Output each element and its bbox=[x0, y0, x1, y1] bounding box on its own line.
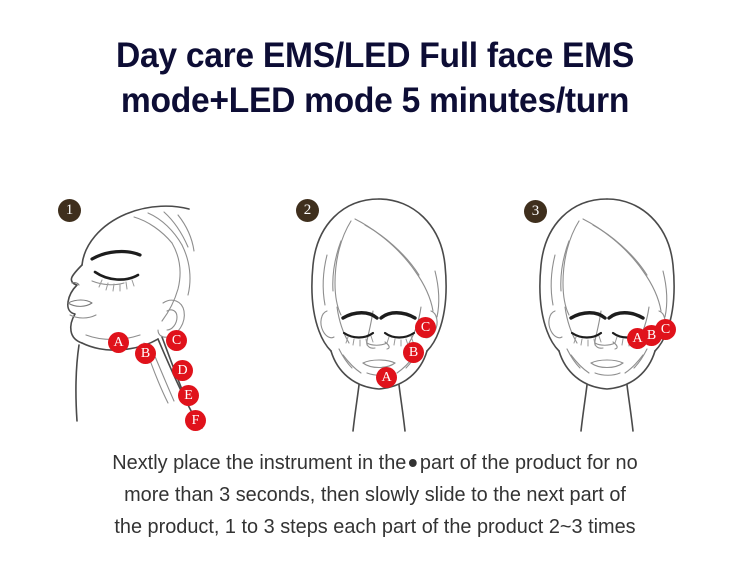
instruction-line-1-after: part of the product for no bbox=[420, 451, 638, 474]
instruction-line-2: more than 3 seconds, then slowly slide t… bbox=[11, 479, 739, 511]
instruction-line-3: the product, 1 to 3 steps each part of t… bbox=[11, 511, 739, 543]
illustration-row: 1 A B C D E F bbox=[0, 185, 750, 435]
point-marker-c[interactable]: C bbox=[655, 319, 676, 340]
instruction-line-1: Nextly place the instrument in thepart o… bbox=[11, 447, 739, 479]
step-badge-2: 2 bbox=[296, 199, 319, 222]
point-marker-b[interactable]: B bbox=[403, 342, 424, 363]
step-badge-3: 3 bbox=[524, 200, 547, 223]
point-marker-e[interactable]: E bbox=[178, 385, 199, 406]
eyebrow-right bbox=[609, 313, 643, 318]
point-marker-c[interactable]: C bbox=[166, 330, 187, 351]
page-title: Day care EMS/LED Full face EMS mode+LED … bbox=[0, 33, 750, 123]
instruction-line-1-before: Nextly place the instrument in the bbox=[112, 451, 406, 474]
point-marker-c[interactable]: C bbox=[415, 317, 436, 338]
front-face-illustration bbox=[483, 185, 733, 435]
panel-step-2: 2 A B C bbox=[255, 185, 505, 435]
point-marker-a[interactable]: A bbox=[376, 367, 397, 388]
point-marker-f[interactable]: F bbox=[185, 410, 206, 431]
front-face-illustration bbox=[255, 185, 505, 435]
instruction-graphic: Day care EMS/LED Full face EMS mode+LED … bbox=[0, 0, 750, 580]
title-line-1: Day care EMS/LED Full face EMS bbox=[15, 33, 735, 78]
point-marker-b[interactable]: B bbox=[135, 343, 156, 364]
point-marker-a[interactable]: A bbox=[108, 332, 129, 353]
profile-head-illustration bbox=[22, 185, 272, 435]
point-marker-d[interactable]: D bbox=[172, 360, 193, 381]
title-line-2: mode+LED mode 5 minutes/turn bbox=[15, 78, 735, 123]
step-badge-1: 1 bbox=[58, 199, 81, 222]
eyebrow bbox=[92, 252, 140, 259]
panel-step-3: 3 A B C bbox=[483, 185, 733, 435]
bullet-dot-icon bbox=[409, 459, 417, 467]
eyebrow-right bbox=[381, 313, 415, 318]
instruction-text: Nextly place the instrument in thepart o… bbox=[0, 447, 750, 543]
panel-step-1: 1 A B C D E F bbox=[22, 185, 272, 435]
eyelash-line bbox=[95, 272, 138, 280]
